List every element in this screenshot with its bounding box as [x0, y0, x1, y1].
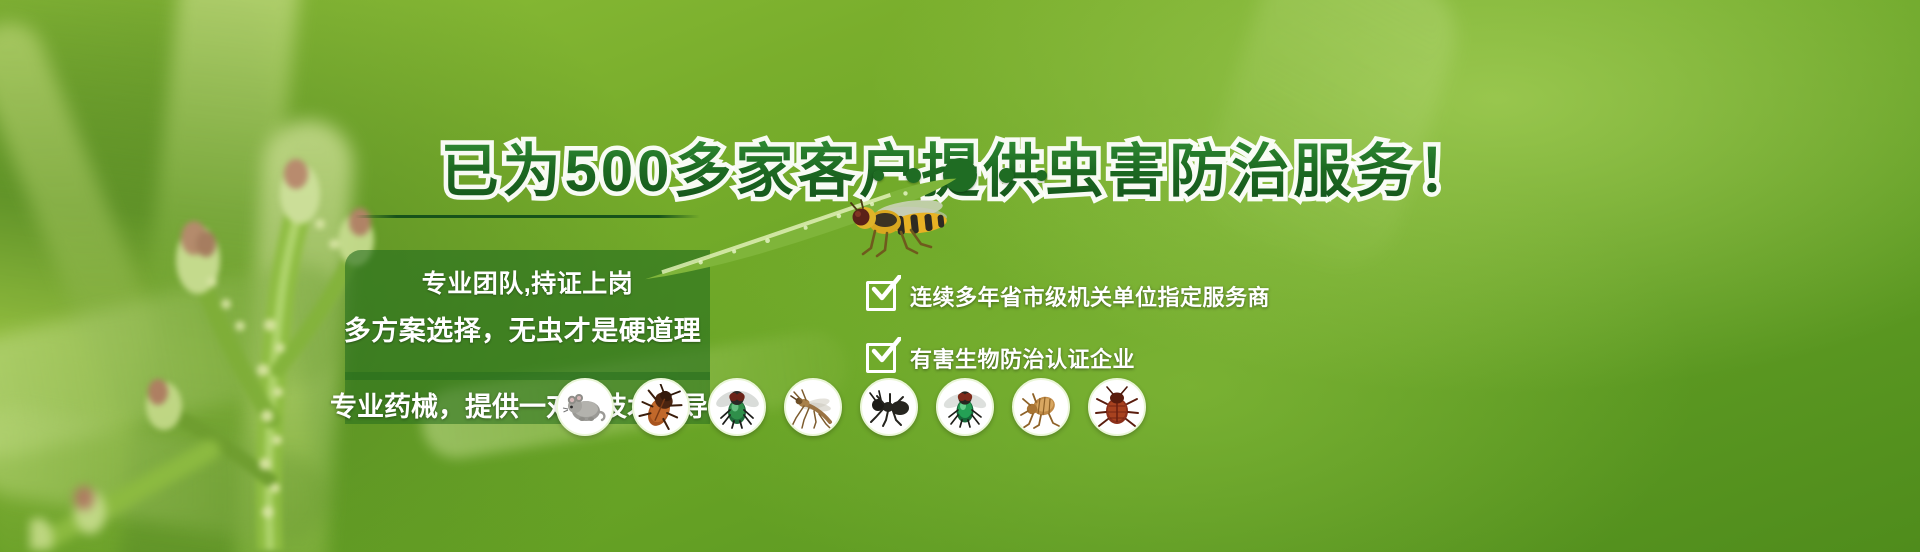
- slogan-line-2: 多方案选择，无虫才是硬道理: [335, 309, 710, 348]
- feature-checklist: 连续多年省市级机关单位指定服务商 有害生物防治认证企业: [866, 274, 1270, 380]
- bedbug-icon: [1094, 384, 1140, 430]
- pest-icon-cockroach[interactable]: [632, 378, 690, 436]
- decorative-dot-small: [873, 170, 884, 181]
- plant-flower-spike-secondary: [30, 300, 270, 550]
- list-item: 连续多年省市级机关单位指定服务商: [866, 274, 1270, 318]
- checkbox-checked-icon: [866, 343, 896, 373]
- divider-line: [355, 215, 700, 218]
- ant-icon: [866, 384, 912, 430]
- checkbox-checked-icon: [866, 281, 896, 311]
- pest-icon-mouse[interactable]: [556, 378, 614, 436]
- list-item: 有害生物防治认证企业: [866, 336, 1270, 380]
- mosquito-icon: [790, 384, 836, 430]
- pest-control-banner: 已为500多家客户提供虫害防治服务！ 已为500多家客户提供虫害防治服务！ 专业…: [0, 0, 1920, 552]
- headline-block: 已为500多家客户提供虫害防治服务！ 已为500多家客户提供虫害防治服务！: [0, 62, 1920, 152]
- decorative-dot-medium: [999, 168, 1014, 183]
- pest-icon-flea[interactable]: [1012, 378, 1070, 436]
- greenbottle-fly-icon: [942, 384, 988, 430]
- checklist-label: 连续多年省市级机关单位指定服务商: [910, 280, 1270, 312]
- mouse-icon: [562, 384, 608, 430]
- hoverfly-photo: [845, 196, 960, 258]
- pest-icon-mosquito[interactable]: [784, 378, 842, 436]
- flea-icon: [1018, 384, 1064, 430]
- checklist-label: 有害生物防治认证企业: [910, 342, 1135, 374]
- cockroach-icon: [638, 384, 684, 430]
- housefly-icon: [714, 384, 760, 430]
- pest-icon-greenbottle-fly[interactable]: [936, 378, 994, 436]
- pest-icon-ant[interactable]: [860, 378, 918, 436]
- pest-icon-bedbug[interactable]: [1088, 378, 1146, 436]
- pest-icon-row: [556, 378, 1146, 436]
- pest-icon-housefly[interactable]: [708, 378, 766, 436]
- decorative-dot-small: [1036, 170, 1047, 181]
